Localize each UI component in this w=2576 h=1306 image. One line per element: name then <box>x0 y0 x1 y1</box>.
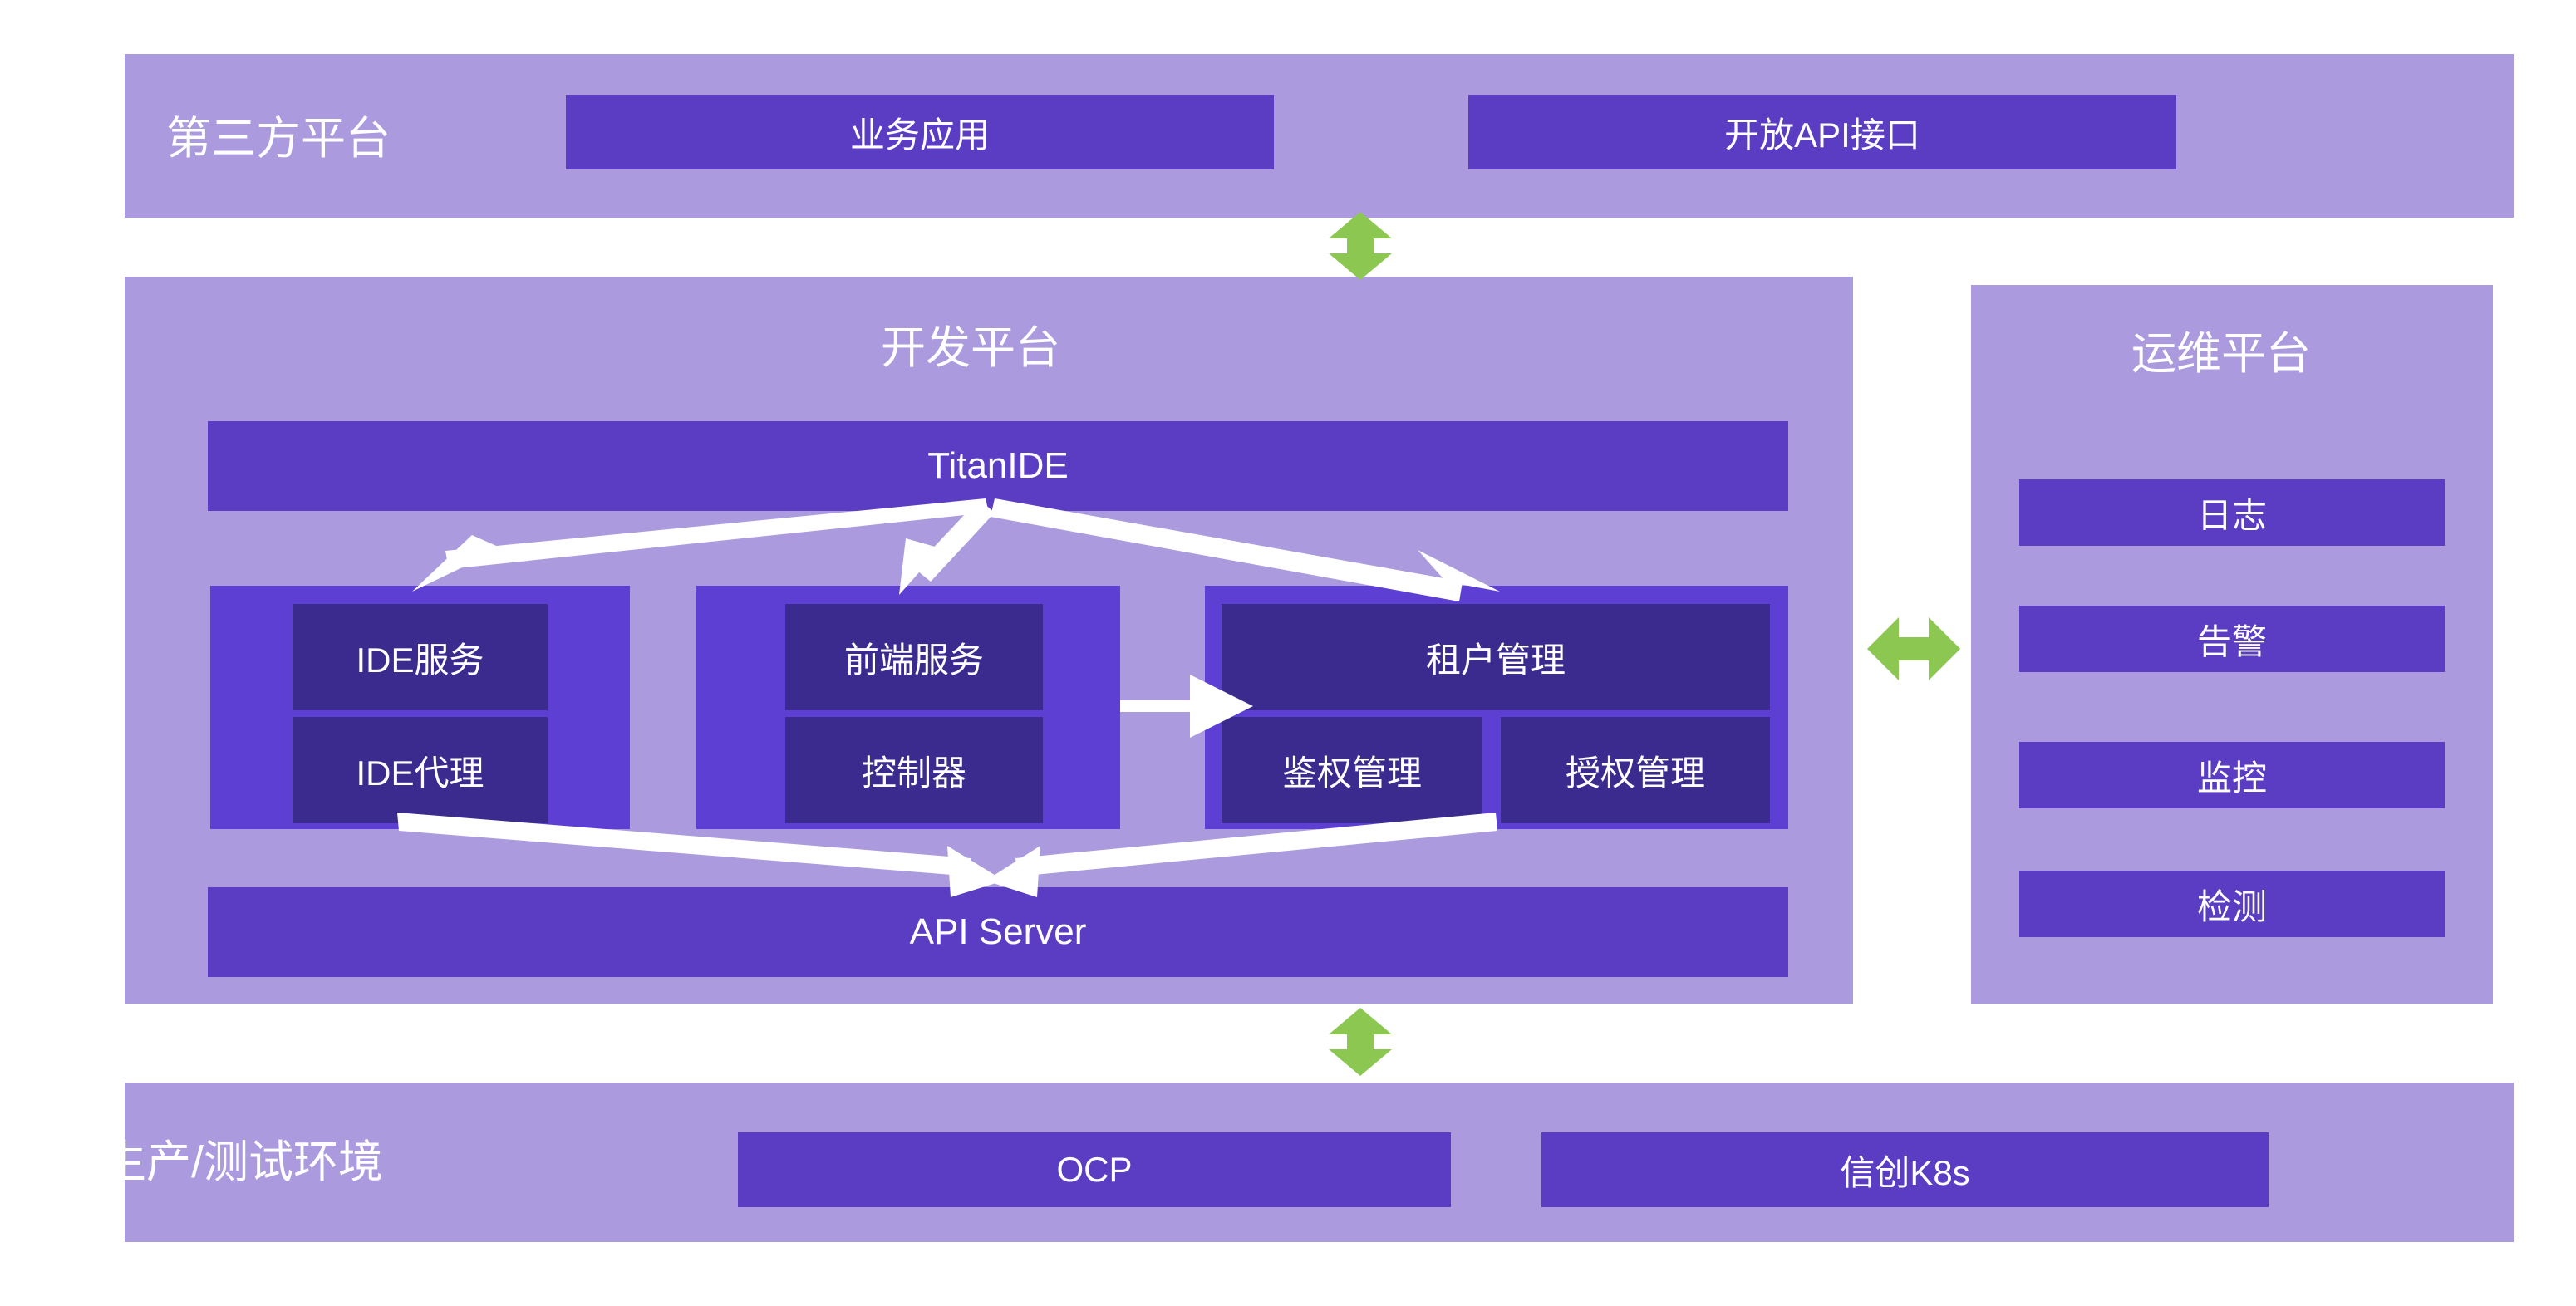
titanide-box[interactable]: TitanIDE <box>208 421 1788 511</box>
tenant-management-box[interactable]: 租户管理 <box>1222 604 1770 710</box>
third-party-platform-title: 第三方平台 <box>166 115 391 164</box>
ops-item-log-box[interactable]: 日志 <box>2019 479 2445 546</box>
ops-item-detect-box[interactable]: 检测 <box>2019 871 2445 937</box>
frontend-service-box[interactable]: 前端服务 <box>785 604 1043 710</box>
environment-title: 生产/测试环境 <box>101 1138 383 1187</box>
api-server-box[interactable]: API Server <box>208 887 1788 977</box>
authentication-management-box[interactable]: 鉴权管理 <box>1222 717 1482 823</box>
controller-box[interactable]: 控制器 <box>785 717 1043 823</box>
dev-environment-connector-icon <box>1319 1008 1402 1076</box>
ide-agent-box[interactable]: IDE代理 <box>293 717 548 823</box>
xinchuang-k8s-box[interactable]: 信创K8s <box>1541 1132 2269 1207</box>
business-application-box[interactable]: 业务应用 <box>566 95 1274 169</box>
ops-platform-title: 运维平台 <box>2131 330 2311 379</box>
ops-item-alarm-box[interactable]: 告警 <box>2019 606 2445 672</box>
ops-item-monitor-box[interactable]: 监控 <box>2019 742 2445 808</box>
authorization-management-box[interactable]: 授权管理 <box>1501 717 1770 823</box>
ide-service-box[interactable]: IDE服务 <box>293 604 548 710</box>
dev-ops-connector-icon <box>1867 609 1960 689</box>
third-party-dev-connector-icon <box>1319 212 1402 280</box>
ocp-box[interactable]: OCP <box>738 1132 1451 1207</box>
open-api-interface-box[interactable]: 开放API接口 <box>1468 95 2176 169</box>
dev-platform-title: 开发平台 <box>881 324 1060 373</box>
architecture-diagram: 第三方平台 业务应用 开放API接口 开发平台 TitanIDE IDE服务 I… <box>0 0 2576 1306</box>
